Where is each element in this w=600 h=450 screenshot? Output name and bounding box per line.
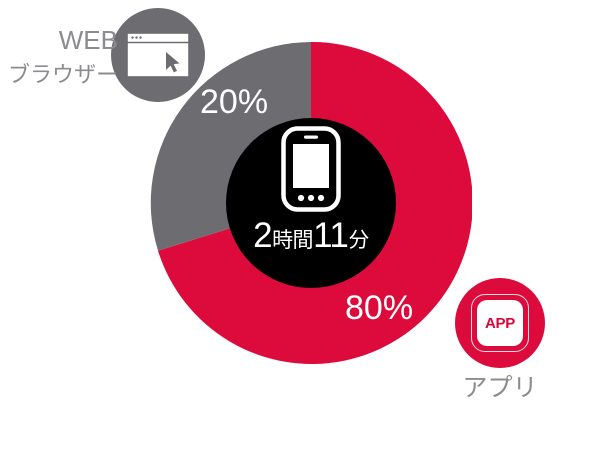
browser-window-icon xyxy=(126,32,190,78)
web-browser-label-line2: ブラウザー xyxy=(6,60,118,92)
app-label: アプリ xyxy=(455,374,545,402)
infographic-canvas: 2 時間 11 分 20% 80% WEB ブラウザー APP xyxy=(0,0,600,450)
web-browser-label-line1: WEB xyxy=(6,22,118,60)
web-browser-label: WEB ブラウザー xyxy=(6,22,118,92)
app-tile-surface: APP xyxy=(477,300,523,346)
app-badge[interactable]: APP xyxy=(455,278,545,368)
donut-center-disc xyxy=(226,118,396,288)
donut-chart xyxy=(150,42,472,364)
donut-chart-svg xyxy=(150,42,472,364)
web-browser-badge[interactable] xyxy=(111,8,205,102)
app-tile-icon: APP xyxy=(471,294,529,352)
app-tile-label: APP xyxy=(485,316,515,331)
